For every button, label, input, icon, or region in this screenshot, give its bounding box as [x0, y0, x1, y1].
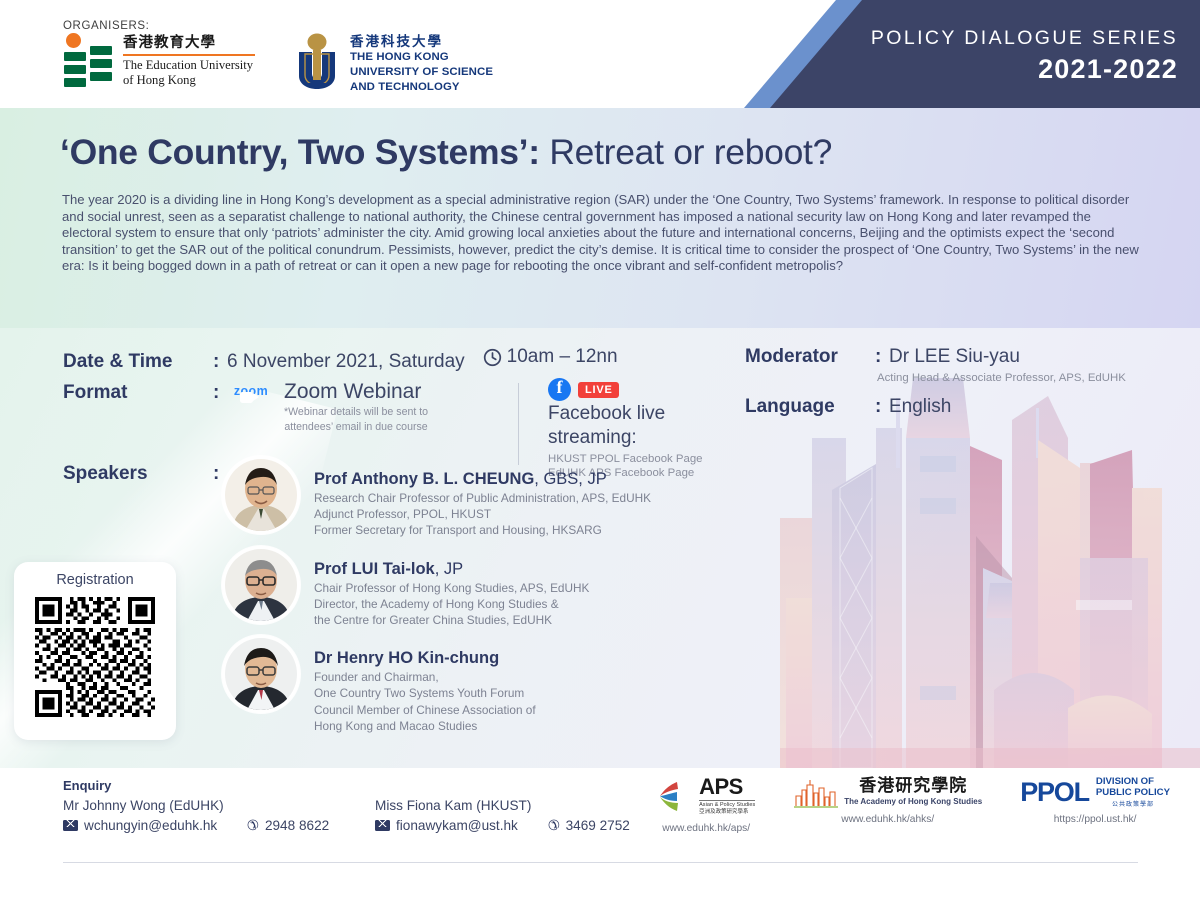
contact-phone-group[interactable]: ✆ 2948 8622 [247, 817, 329, 834]
contact-name: Miss Fiona Kam (HKUST) [375, 798, 630, 813]
contact-eduhk: Mr Johnny Wong (EdUHK) wchungyin@eduhk.h… [63, 798, 329, 834]
ahks-skyline-icon [793, 776, 839, 808]
moderator-label: Moderator [745, 346, 875, 368]
ahks-url[interactable]: www.eduhk.hk/ahks/ [793, 814, 982, 825]
page-title-bold: ‘One Country, Two Systems’: [60, 132, 540, 172]
footer-logo-row: APS Asian & Policy Studies 亞洲及政策研究學系 www… [657, 776, 1170, 834]
speaker-role-line: One Country Two Systems Youth Forum [314, 686, 536, 700]
zoom-text: Zoom Webinar *Webinar details will be se… [284, 380, 428, 434]
avatar [222, 635, 300, 713]
language-colon: : [875, 396, 889, 418]
speaker-role-line: the Centre for Greater China Studies, Ed… [314, 613, 589, 627]
ahks-cn: 香港研究學院 [844, 778, 982, 795]
ppol-wordmark: PPOL [1020, 779, 1089, 806]
phone-icon: ✆ [548, 817, 560, 834]
speaker-text: Prof LUI Tai-lok, JP Chair Professor of … [314, 546, 589, 628]
email-icon [63, 820, 78, 831]
speaker-name: Prof Anthony B. L. CHEUNG, GBS, JP [314, 470, 651, 489]
date-value: 6 November 2021, Saturday [227, 351, 465, 373]
format-divider [518, 383, 519, 465]
banner-years-label: 2021-2022 [871, 54, 1178, 85]
facebook-title-line2: streaming: [548, 427, 703, 449]
contact-name: Mr Johnny Wong (EdUHK) [63, 798, 329, 813]
moderator-role: Acting Head & Associate Professor, APS, … [877, 372, 1126, 384]
speaker-name: Prof LUI Tai-lok, JP [314, 560, 589, 579]
contact-email-group[interactable]: fionawykam@ust.hk [375, 818, 518, 833]
time-value: 10am – 12nn [507, 346, 618, 368]
facebook-live-header: LIVE [548, 378, 703, 401]
contact-phone[interactable]: 2948 8622 [265, 818, 329, 833]
ppol-sub-line1: DIVISION OF [1096, 776, 1170, 787]
eduhk-logo-en-line2: of Hong Kong [123, 73, 255, 88]
aps-logo: APS Asian & Policy Studies 亞洲及政策研究學系 [657, 776, 755, 817]
ahks-en: The Academy of Hong Kong Studies [844, 797, 982, 807]
organisers-label: ORGANISERS: [63, 20, 149, 32]
speakers-label: Speakers [63, 463, 213, 485]
speakers-row: Speakers : [63, 463, 227, 485]
registration-card[interactable]: Registration [14, 562, 176, 740]
language-row: Language : English [745, 396, 951, 418]
contact-email[interactable]: wchungyin@eduhk.hk [84, 818, 217, 833]
ahks-text: 香港研究學院 The Academy of Hong Kong Studies [844, 778, 982, 807]
event-details: Date & Time : 6 November 2021, Saturday … [0, 328, 1200, 768]
registration-label: Registration [14, 572, 176, 588]
speaker-text: Prof Anthony B. L. CHEUNG, GBS, JP Resea… [314, 456, 651, 538]
language-value: English [889, 396, 951, 418]
eduhk-logo-rule [123, 54, 255, 55]
speaker-role-line: Adjunct Professor, PPOL, HKUST [314, 507, 651, 521]
speaker-role-line: Hong Kong and Macao Studies [314, 719, 536, 733]
hkust-logo-text: 香港科技大學 THE HONG KONG UNIVERSITY OF SCIEN… [350, 33, 493, 95]
hkust-logo-en-line1: THE HONG KONG [350, 51, 493, 65]
speaker-name-main: Prof LUI Tai-lok [314, 560, 435, 578]
speaker-name-suffix: , JP [435, 560, 463, 578]
speaker-name-main: Dr Henry HO Kin-chung [314, 649, 499, 667]
ppol-logo-block[interactable]: PPOL DIVISION OF PUBLIC POLICY 公共政策學部 ht… [1020, 776, 1170, 825]
speaker-role-line: Former Secretary for Transport and Housi… [314, 523, 651, 537]
zoom-note-line1: *Webinar details will be sent to [284, 406, 428, 419]
ppol-sub-text: DIVISION OF PUBLIC POLICY 公共政策學部 [1096, 776, 1170, 808]
hkust-logo-mark-icon [293, 33, 341, 91]
zoom-webinar-block: zoom Zoom Webinar *Webinar details will … [227, 380, 428, 434]
email-icon [375, 820, 390, 831]
header: ORGANISERS: 香港教育大學 The Education Univers… [0, 0, 1200, 108]
poster-root: ORGANISERS: 香港教育大學 The Education Univers… [0, 0, 1200, 900]
live-badge: LIVE [578, 382, 619, 398]
time-group: 10am – 12nn [483, 346, 618, 368]
moderator-name: Dr LEE Siu-yau [889, 346, 1020, 368]
phone-icon: ✆ [247, 817, 259, 834]
format-row: Format : zoom Zoom Webinar *Webinar deta… [63, 380, 428, 434]
hkust-logo-cn: 香港科技大學 [350, 35, 493, 50]
speaker-role-line: Research Chair Professor of Public Admin… [314, 491, 651, 505]
zoom-title: Zoom Webinar [284, 380, 421, 403]
registration-qr-code[interactable] [31, 593, 159, 721]
speaker-role-line: Founder and Chairman, [314, 670, 536, 684]
hero-section: ‘One Country, Two Systems’: Retreat or r… [0, 108, 1200, 328]
date-time-label: Date & Time [63, 351, 213, 373]
aps-mark-icon [657, 779, 693, 813]
footer: Enquiry Mr Johnny Wong (EdUHK) wchungyin… [0, 768, 1200, 900]
avatar [222, 456, 300, 534]
contact-hkust: Miss Fiona Kam (HKUST) fionawykam@ust.hk… [375, 798, 630, 834]
ppol-url[interactable]: https://ppol.ust.hk/ [1020, 814, 1170, 825]
moderator-row: Moderator : Dr LEE Siu-yau [745, 346, 1020, 368]
eduhk-logo-en-line1: The Education University [123, 58, 255, 73]
date-time-row: Date & Time : 6 November 2021, Saturday … [63, 346, 618, 373]
language-label: Language [745, 396, 875, 418]
speaker-role-line: Council Member of Chinese Association of [314, 703, 536, 717]
facebook-icon [548, 378, 571, 401]
aps-wordmark: APS [699, 776, 755, 798]
ppol-sub-line2: PUBLIC POLICY [1096, 787, 1170, 798]
speaker-name-suffix: , GBS, JP [534, 470, 606, 488]
aps-subtitle-cn: 亞洲及政策研究學系 [699, 809, 755, 816]
zoom-logo: zoom [227, 380, 275, 400]
hkust-logo-en-line3: AND TECHNOLOGY [350, 81, 493, 95]
contact-line: wchungyin@eduhk.hk ✆ 2948 8622 [63, 817, 329, 834]
ppol-cn: 公共政策學部 [1096, 799, 1170, 808]
moderator-colon: : [875, 346, 889, 368]
date-time-colon: : [213, 351, 227, 373]
format-colon: : [213, 380, 227, 406]
eduhk-logo: 香港教育大學 The Education University of Hong … [63, 33, 255, 89]
enquiry-title: Enquiry [63, 778, 111, 793]
format-label: Format [63, 380, 213, 406]
hkust-logo-en-line2: UNIVERSITY OF SCIENCE [350, 66, 493, 80]
footer-divider [63, 862, 1138, 863]
speaker-item: Prof LUI Tai-lok, JP Chair Professor of … [222, 546, 651, 628]
clock-icon [483, 348, 502, 367]
aps-text: APS Asian & Policy Studies 亞洲及政策研究學系 [699, 776, 755, 817]
page-title: ‘One Country, Two Systems’: Retreat or r… [60, 132, 1150, 173]
organiser-logo-row: 香港教育大學 The Education University of Hong … [63, 33, 493, 95]
ahks-logo: 香港研究學院 The Academy of Hong Kong Studies [793, 776, 982, 808]
contact-email[interactable]: fionawykam@ust.hk [396, 818, 518, 833]
zoom-note-line2: attendees’ email in due course [284, 421, 428, 434]
aps-subtitle-en: Asian & Policy Studies [699, 800, 755, 809]
event-description: The year 2020 is a dividing line in Hong… [62, 192, 1142, 275]
policy-dialogue-banner: POLICY DIALOGUE SERIES 2021-2022 [740, 0, 1200, 108]
facebook-title-line1: Facebook live [548, 403, 703, 425]
hkust-logo: 香港科技大學 THE HONG KONG UNIVERSITY OF SCIEN… [293, 33, 493, 95]
speaker-text: Dr Henry HO Kin-chung Founder and Chairm… [314, 635, 536, 733]
banner-text: POLICY DIALOGUE SERIES 2021-2022 [871, 27, 1178, 85]
contact-line: fionawykam@ust.hk ✆ 3469 2752 [375, 817, 630, 834]
contact-phone-group[interactable]: ✆ 3469 2752 [548, 817, 630, 834]
speaker-item: Dr Henry HO Kin-chung Founder and Chairm… [222, 635, 651, 733]
avatar [222, 546, 300, 624]
contact-email-group[interactable]: wchungyin@eduhk.hk [63, 818, 217, 833]
speaker-role-line: Chair Professor of Hong Kong Studies, AP… [314, 581, 589, 595]
eduhk-logo-text: 香港教育大學 The Education University of Hong … [123, 33, 255, 88]
speaker-item: Prof Anthony B. L. CHEUNG, GBS, JP Resea… [222, 456, 651, 538]
ppol-logo: PPOL DIVISION OF PUBLIC POLICY 公共政策學部 [1020, 776, 1170, 808]
speakers-list: Prof Anthony B. L. CHEUNG, GBS, JP Resea… [222, 456, 651, 741]
speaker-name: Dr Henry HO Kin-chung [314, 649, 536, 668]
main-section: Date & Time : 6 November 2021, Saturday … [0, 328, 1200, 768]
page-title-regular: Retreat or reboot? [540, 132, 832, 172]
contact-phone[interactable]: 3469 2752 [566, 818, 630, 833]
banner-series-label: POLICY DIALOGUE SERIES [871, 27, 1178, 50]
eduhk-logo-mark-icon [63, 33, 115, 89]
aps-logo-block[interactable]: APS Asian & Policy Studies 亞洲及政策研究學系 www… [657, 776, 755, 834]
aps-url[interactable]: www.eduhk.hk/aps/ [657, 823, 755, 834]
ahks-logo-block[interactable]: 香港研究學院 The Academy of Hong Kong Studies … [793, 776, 982, 825]
speaker-role-line: Director, the Academy of Hong Kong Studi… [314, 597, 589, 611]
speaker-name-main: Prof Anthony B. L. CHEUNG [314, 470, 534, 488]
eduhk-logo-cn: 香港教育大學 [123, 36, 255, 52]
